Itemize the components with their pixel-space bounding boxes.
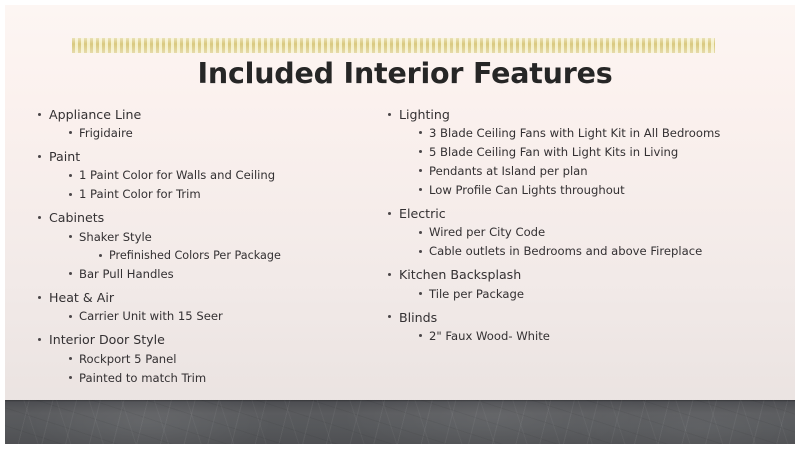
feature-item-level-1: CabinetsShaker StylePrefinished Colors P… — [31, 208, 367, 284]
feature-item-row: Low Profile Can Lights throughout — [429, 181, 800, 200]
feature-item-label: Heat & Air — [49, 288, 114, 307]
feature-item-label: Tile per Package — [429, 285, 524, 304]
bullet-icon — [419, 334, 422, 337]
feature-item-level-2: Tile per Package — [399, 285, 800, 304]
bullet-icon — [419, 231, 422, 234]
feature-item-level-1: ElectricWired per City CodeCable outlets… — [381, 204, 800, 261]
feature-sublist-level-2: Carrier Unit with 15 Seer — [49, 307, 367, 326]
feature-item-level-1: Heat & AirCarrier Unit with 15 Seer — [31, 288, 367, 326]
feature-item-label: Appliance Line — [49, 105, 141, 124]
feature-item-label: 3 Blade Ceiling Fans with Light Kit in A… — [429, 124, 720, 143]
feature-item-row: Appliance Line — [49, 105, 367, 124]
feature-item-row: Paint — [49, 147, 367, 166]
feature-item-row: Wired per City Code — [429, 223, 800, 242]
feature-item-label: Electric — [399, 204, 446, 223]
feature-item-row: 5 Blade Ceiling Fan with Light Kits in L… — [429, 143, 800, 162]
features-column-right: Lighting3 Blade Ceiling Fans with Light … — [367, 105, 800, 389]
feature-item-label: Interior Door Style — [49, 330, 165, 349]
feature-item-row: Bar Pull Handles — [79, 265, 367, 284]
bullet-icon — [69, 131, 72, 134]
bullet-icon — [388, 212, 391, 215]
feature-sublist-level-2: Frigidaire — [49, 124, 367, 143]
bullet-icon — [419, 150, 422, 153]
features-column-left: Appliance LineFrigidairePaint1 Paint Col… — [5, 105, 367, 389]
feature-item-label: Painted to match Trim — [79, 369, 206, 388]
feature-item-level-1: Lighting3 Blade Ceiling Fans with Light … — [381, 105, 800, 200]
feature-item-row: Lighting — [399, 105, 800, 124]
feature-item-level-2: Wired per City Code — [399, 223, 800, 242]
feature-item-level-2: Low Profile Can Lights throughout — [399, 181, 800, 200]
bullet-icon — [38, 296, 41, 299]
decorative-striped-ribbon — [72, 38, 715, 53]
feature-item-label: Carrier Unit with 15 Seer — [79, 307, 223, 326]
feature-sublist-level-2: Wired per City CodeCable outlets in Bedr… — [399, 223, 800, 261]
feature-item-level-3: Prefinished Colors Per Package — [79, 247, 367, 266]
feature-item-label: Wired per City Code — [429, 223, 545, 242]
feature-item-level-2: Frigidaire — [49, 124, 367, 143]
bullet-icon — [38, 155, 41, 158]
bullet-icon — [69, 235, 72, 238]
feature-item-level-2: Carrier Unit with 15 Seer — [49, 307, 367, 326]
page-title: Included Interior Features — [5, 57, 800, 90]
feature-item-row: 1 Paint Color for Walls and Ceiling — [79, 166, 367, 185]
bullet-icon — [38, 216, 41, 219]
feature-item-label: Low Profile Can Lights throughout — [429, 181, 625, 200]
feature-item-label: Paint — [49, 147, 80, 166]
feature-item-level-2: Painted to match Trim — [49, 369, 367, 388]
feature-item-level-2: 3 Blade Ceiling Fans with Light Kit in A… — [399, 124, 800, 143]
feature-item-level-2: Rockport 5 Panel — [49, 350, 367, 369]
feature-item-level-1: Kitchen BacksplashTile per Package — [381, 265, 800, 303]
feature-item-label: Cabinets — [49, 208, 104, 227]
bullet-icon — [38, 338, 41, 341]
bullet-icon — [388, 273, 391, 276]
feature-item-row: Heat & Air — [49, 288, 367, 307]
feature-sublist-level-2: 2" Faux Wood- White — [399, 327, 800, 346]
feature-item-level-1: Paint1 Paint Color for Walls and Ceiling… — [31, 147, 367, 204]
feature-sublist-level-2: 3 Blade Ceiling Fans with Light Kit in A… — [399, 124, 800, 200]
bullet-icon — [388, 113, 391, 116]
feature-item-level-1: Appliance LineFrigidaire — [31, 105, 367, 143]
feature-item-row: Frigidaire — [79, 124, 367, 143]
feature-sublist-level-2: Rockport 5 PanelPainted to match Trim — [49, 350, 367, 388]
feature-item-level-2: Cable outlets in Bedrooms and above Fire… — [399, 242, 800, 261]
feature-item-row: Blinds — [399, 308, 800, 327]
feature-item-level-2: 1 Paint Color for Walls and Ceiling — [49, 166, 367, 185]
feature-item-label: Blinds — [399, 308, 437, 327]
bullet-icon — [388, 315, 391, 318]
feature-item-label: Rockport 5 Panel — [79, 350, 177, 369]
bullet-icon — [69, 193, 72, 196]
feature-item-level-2: 5 Blade Ceiling Fan with Light Kits in L… — [399, 143, 800, 162]
feature-item-level-2: Shaker StylePrefinished Colors Per Packa… — [49, 228, 367, 266]
bullet-icon — [69, 174, 72, 177]
feature-item-row: Cabinets — [49, 208, 367, 227]
feature-item-label: Pendants at Island per plan — [429, 162, 588, 181]
stone-floor-band — [5, 400, 795, 444]
feature-sublist-level-2: Shaker StylePrefinished Colors Per Packa… — [49, 228, 367, 285]
feature-list-left: Appliance LineFrigidairePaint1 Paint Col… — [31, 105, 367, 388]
feature-item-level-2: Pendants at Island per plan — [399, 162, 800, 181]
features-columns: Appliance LineFrigidairePaint1 Paint Col… — [5, 105, 800, 389]
feature-item-row: 2" Faux Wood- White — [429, 327, 800, 346]
feature-item-level-2: Bar Pull Handles — [49, 265, 367, 284]
feature-item-row: Rockport 5 Panel — [79, 350, 367, 369]
bullet-icon — [69, 272, 72, 275]
feature-item-row: 1 Paint Color for Trim — [79, 185, 367, 204]
bullet-icon — [69, 315, 72, 318]
feature-item-level-1: Interior Door StyleRockport 5 PanelPaint… — [31, 330, 367, 387]
feature-item-row: Carrier Unit with 15 Seer — [79, 307, 367, 326]
feature-sublist-level-3: Prefinished Colors Per Package — [79, 247, 367, 266]
bullet-icon — [419, 131, 422, 134]
bullet-icon — [419, 169, 422, 172]
bullet-icon — [38, 113, 41, 116]
feature-sublist-level-2: 1 Paint Color for Walls and Ceiling1 Pai… — [49, 166, 367, 204]
feature-item-label: Prefinished Colors Per Package — [109, 247, 281, 266]
feature-item-label: Frigidaire — [79, 124, 133, 143]
bullet-icon — [69, 376, 72, 379]
feature-item-level-1: Blinds2" Faux Wood- White — [381, 308, 800, 346]
bullet-icon — [69, 357, 72, 360]
feature-item-label: 1 Paint Color for Trim — [79, 185, 201, 204]
feature-item-row: Tile per Package — [429, 285, 800, 304]
bullet-icon — [99, 254, 102, 257]
feature-item-row: Interior Door Style — [49, 330, 367, 349]
feature-item-label: Shaker Style — [79, 228, 152, 247]
feature-item-label: Lighting — [399, 105, 450, 124]
feature-item-row: Electric — [399, 204, 800, 223]
feature-item-label: 1 Paint Color for Walls and Ceiling — [79, 166, 275, 185]
feature-item-row: Cable outlets in Bedrooms and above Fire… — [429, 242, 800, 261]
feature-item-row: Painted to match Trim — [79, 369, 367, 388]
feature-item-level-2: 2" Faux Wood- White — [399, 327, 800, 346]
bullet-icon — [419, 250, 422, 253]
feature-item-label: 5 Blade Ceiling Fan with Light Kits in L… — [429, 143, 678, 162]
feature-item-label: Cable outlets in Bedrooms and above Fire… — [429, 242, 702, 261]
feature-item-row: Pendants at Island per plan — [429, 162, 800, 181]
feature-item-row: Prefinished Colors Per Package — [109, 247, 367, 266]
feature-item-level-2: 1 Paint Color for Trim — [49, 185, 367, 204]
feature-sublist-level-2: Tile per Package — [399, 285, 800, 304]
feature-item-row: 3 Blade Ceiling Fans with Light Kit in A… — [429, 124, 800, 143]
feature-item-label: Kitchen Backsplash — [399, 265, 521, 284]
feature-list-right: Lighting3 Blade Ceiling Fans with Light … — [381, 105, 800, 346]
feature-item-label: Bar Pull Handles — [79, 265, 174, 284]
feature-item-label: 2" Faux Wood- White — [429, 327, 550, 346]
bullet-icon — [419, 292, 422, 295]
slide-canvas: Included Interior Features Appliance Lin… — [0, 0, 800, 449]
feature-item-row: Kitchen Backsplash — [399, 265, 800, 284]
feature-item-row: Shaker Style — [79, 228, 367, 247]
bullet-icon — [419, 188, 422, 191]
